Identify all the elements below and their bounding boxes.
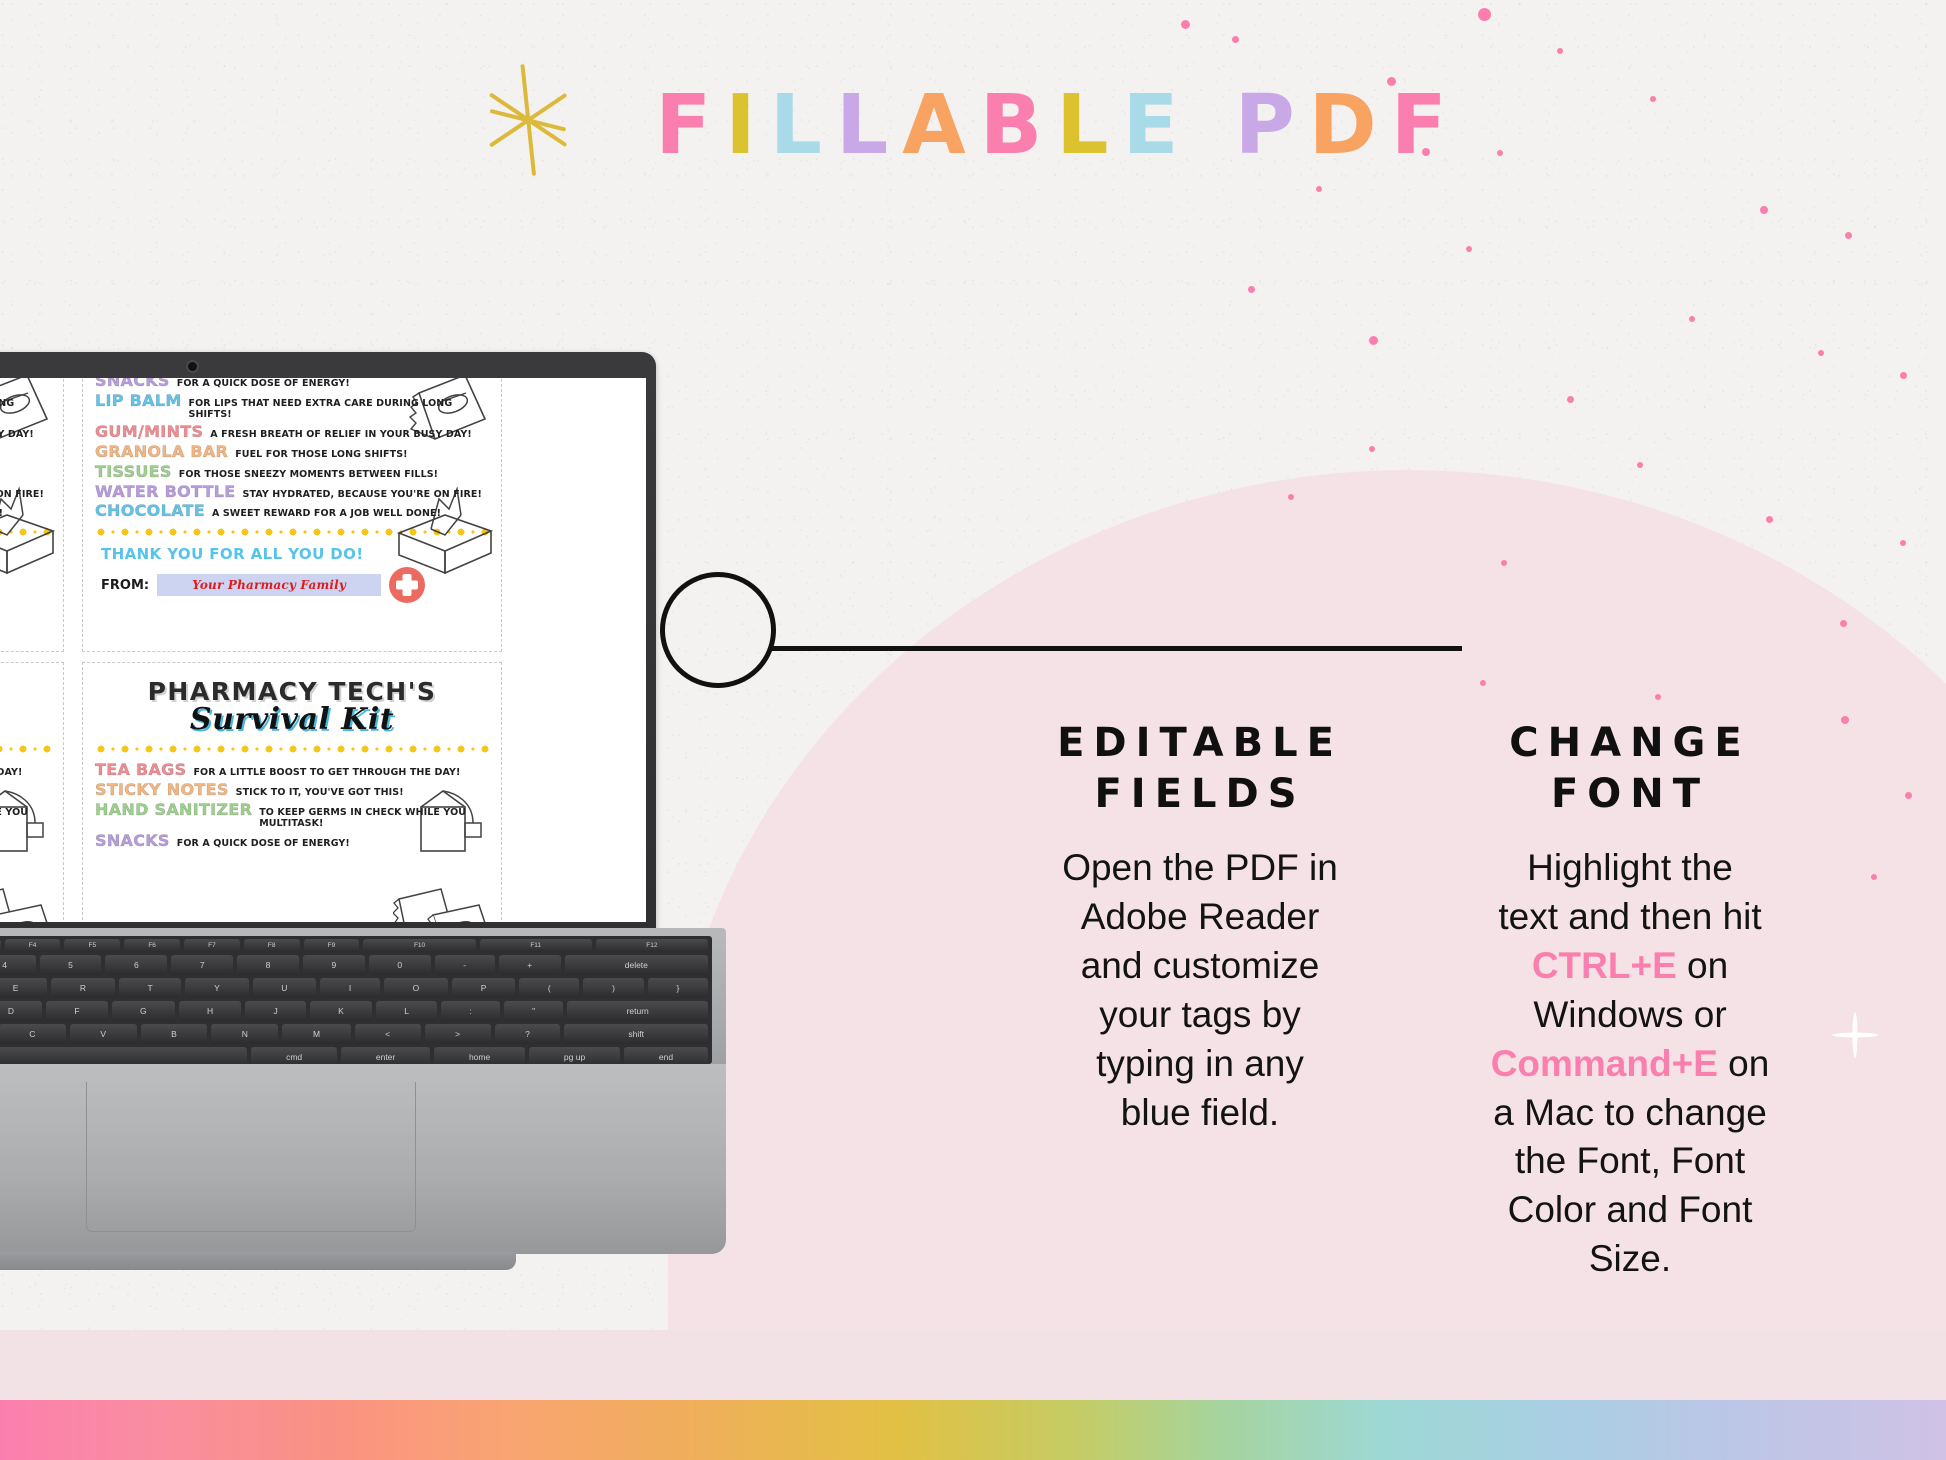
keyboard-key-5[interactable]: 5 — [40, 955, 102, 975]
card-subtitle: Survival Kit — [0, 702, 51, 737]
keyboard-key-f4[interactable]: F4 — [5, 939, 61, 952]
tissue-box-doodle — [391, 485, 497, 577]
title-letter: D — [1309, 85, 1377, 167]
column-body-line: text and then hit — [1430, 893, 1830, 942]
column-body-text: Size. — [1589, 1238, 1671, 1279]
column-change-font: CHANGE FONT Highlight thetext and then h… — [1430, 718, 1830, 1284]
keyboard-key-0[interactable]: 0 — [369, 955, 431, 975]
confetti-dot — [1232, 36, 1239, 43]
confetti-dot — [1181, 20, 1190, 29]
column-body-line: Adobe Reader — [1000, 893, 1400, 942]
webcam-icon — [188, 362, 197, 371]
title-letter: B — [980, 85, 1043, 167]
keyboard-key-k[interactable]: K — [310, 1001, 372, 1021]
card-item-row: TISSUESFOR THOSE SNEEZY MOMENTS BETWEEN … — [95, 464, 489, 481]
confetti-dot — [1480, 680, 1486, 686]
snack-bag-doodle — [0, 378, 53, 445]
keyboard-key-i[interactable]: I — [320, 978, 380, 998]
column-body-line: blue field. — [1000, 1089, 1400, 1138]
title-letter: L — [836, 85, 888, 167]
sparkle-icon — [485, 66, 571, 174]
card-item-keyword: STICKY NOTES — [95, 782, 229, 799]
keyboard-key-[interactable]: } — [648, 978, 708, 998]
keyboard-key-n[interactable]: N — [211, 1024, 278, 1044]
card-item-row: GRANOLA BARFUEL FOR THOSE LONG SHIFTS! — [0, 444, 51, 461]
column-body-line: Open the PDF in — [1000, 844, 1400, 893]
keyboard-key-f5[interactable]: F5 — [64, 939, 120, 952]
card-item-keyword: SNACKS — [95, 833, 170, 850]
confetti-dot — [1841, 716, 1849, 724]
keyboard-key-p[interactable]: P — [452, 978, 515, 998]
tissue-box-doodle — [0, 485, 59, 577]
card-item-keyword: TISSUES — [95, 464, 172, 481]
rainbow-footer-bar — [0, 1400, 1946, 1460]
keyboard-key-delete[interactable]: delete — [565, 955, 708, 975]
snack-bag-doodle — [405, 378, 491, 445]
keyboard-row: ctrloptioncmdcmdenterhomepg upend — [0, 1044, 712, 1064]
keyboard-key-b[interactable]: B — [141, 1024, 208, 1044]
keyboard-key-space[interactable] — [0, 1047, 247, 1064]
keyboard-key-7[interactable]: 7 — [171, 955, 233, 975]
shortcut-highlight: Command+E — [1491, 1043, 1718, 1084]
column-body-text: Color and Font — [1508, 1189, 1753, 1230]
keyboard-key-[interactable]: - — [435, 955, 495, 975]
poster-canvas: FILLABLEPDF — [0, 0, 1946, 1460]
star-divider — [95, 743, 489, 755]
printable-sheet: SNACKSFOR A QUICK DOSE OF ENERGY!LIP BAL… — [0, 378, 646, 922]
card-subtitle: Survival Kit — [95, 702, 489, 737]
confetti-dot — [1905, 792, 1912, 799]
pink-band — [0, 1330, 1946, 1400]
card-item-keyword: HAND SANITIZER — [95, 802, 252, 819]
keyboard-key-c[interactable]: C — [0, 1024, 66, 1044]
keyboard-key-v[interactable]: V — [70, 1024, 137, 1044]
snack-bags-doodle — [0, 885, 59, 922]
keyboard-key-e[interactable]: E — [0, 978, 47, 998]
tea-bag-doodle — [0, 785, 53, 863]
keyboard-key-f10[interactable]: F10 — [363, 939, 475, 952]
confetti-dot — [1900, 372, 1907, 379]
confetti-dot — [1466, 246, 1472, 252]
card-bottom-right: PHARMACY TECH'S Survival Kit — [82, 662, 502, 922]
card-item-keyword: CHOCOLATE — [95, 503, 205, 520]
card-item-description: FOR THOSE SNEEZY MOMENTS BETWEEN FILLS! — [179, 470, 438, 481]
tea-bag-doodle — [411, 785, 491, 863]
card-item-keyword: GUM/MINTS — [95, 424, 203, 441]
confetti-dot — [1501, 560, 1507, 566]
keyboard-key-r[interactable]: R — [51, 978, 115, 998]
laptop-lid: SNACKSFOR A QUICK DOSE OF ENERGY!LIP BAL… — [0, 352, 656, 932]
column-body-text: Highlight the — [1527, 847, 1733, 888]
keyboard-row: ~1234567890-+delete — [0, 952, 712, 975]
title-letter: A — [902, 85, 965, 167]
confetti-dot — [1900, 540, 1906, 546]
keyboard-row: shiftZXCVBNM<>?shift — [0, 1021, 712, 1044]
title-letter: L — [1056, 85, 1108, 167]
confetti-dot — [1288, 494, 1294, 500]
keyboard-key-6[interactable]: 6 — [105, 955, 167, 975]
confetti-dot — [1655, 694, 1661, 700]
column-body-line: Highlight the — [1430, 844, 1830, 893]
title-letter: L — [770, 85, 822, 167]
keyboard-key-m[interactable]: M — [282, 1024, 350, 1044]
confetti-dot — [1760, 206, 1768, 214]
laptop-mockup: SNACKSFOR A QUICK DOSE OF ENERGY!LIP BAL… — [0, 352, 956, 1302]
keyboard-key-h[interactable]: H — [179, 1001, 242, 1021]
column-title: EDITABLE FIELDS — [1000, 718, 1400, 820]
card-item-description: FOR A LITTLE BOOST TO GET THROUGH THE DA… — [0, 768, 22, 779]
column-title: CHANGE FONT — [1430, 718, 1830, 820]
laptop-screen: SNACKSFOR A QUICK DOSE OF ENERGY!LIP BAL… — [0, 378, 646, 922]
keyboard-key-[interactable]: ( — [519, 978, 579, 998]
callout-leader-line — [770, 646, 1462, 651]
title-letter: P — [1235, 85, 1295, 167]
keyboard-key-pgup[interactable]: pg up — [529, 1047, 620, 1064]
keyboard-key-[interactable]: > — [425, 1024, 491, 1044]
card-item-row: GRANOLA BARFUEL FOR THOSE LONG SHIFTS! — [95, 444, 489, 461]
keyboard-key-f11[interactable]: F11 — [480, 939, 592, 952]
card-item-description: FOR A QUICK DOSE OF ENERGY! — [177, 379, 350, 390]
from-label: FROM: — [101, 578, 149, 593]
confetti-dot — [1316, 186, 1322, 192]
page-title-text: FILLABLEPDF — [655, 117, 1461, 134]
column-body-line: and customize — [1000, 942, 1400, 991]
confetti-dot — [1248, 286, 1255, 293]
title-letter: F — [1391, 85, 1447, 167]
keyboard-key-t[interactable]: T — [119, 978, 182, 998]
column-editable-fields: EDITABLE FIELDS Open the PDF inAdobe Rea… — [1000, 718, 1400, 1137]
keyboard-key-[interactable]: : — [441, 1001, 500, 1021]
card-item-description: STICK TO IT, YOU'VE GOT THIS! — [236, 788, 404, 799]
keyboard-key-f8[interactable]: F8 — [244, 939, 300, 952]
card-item-keyword: TEA BAGS — [95, 762, 186, 779]
keyboard-key-f9[interactable]: F9 — [304, 939, 360, 952]
keyboard-row: tabQWERTYUIOP()} — [0, 975, 712, 998]
confetti-dot — [1478, 8, 1491, 21]
keyboard-key-f12[interactable]: F12 — [596, 939, 708, 952]
card-bottom-left: PHARMACY TECH'S Survival Kit — [0, 662, 64, 922]
keyboard-key-4[interactable]: 4 — [0, 955, 36, 975]
card-item-row: TISSUESFOR THOSE SNEEZY MOMENTS BETWEEN … — [0, 464, 51, 481]
keyboard-row: escF1F2F3F4F5F6F7F8F9F10F11F12 — [0, 936, 712, 952]
card-item-keyword: LIP BALM — [95, 393, 182, 410]
confetti-dot — [1369, 446, 1375, 452]
confetti-dot — [1369, 336, 1378, 345]
confetti-dot — [1840, 620, 1847, 627]
card-top-right: SNACKSFOR A QUICK DOSE OF ENERGY!LIP BAL… — [82, 378, 502, 652]
column-body: Open the PDF inAdobe Readerand customize… — [1000, 844, 1400, 1137]
snack-bags-doodle — [393, 885, 497, 922]
confetti-dot — [1871, 874, 1877, 880]
keyboard-key-[interactable]: < — [355, 1024, 421, 1044]
keyboard-key-f3[interactable]: F3 — [0, 939, 1, 952]
magnifier-circle-icon — [660, 572, 776, 688]
shortcut-highlight: CTRL+E — [1532, 945, 1677, 986]
keyboard-key-enter[interactable]: enter — [341, 1047, 430, 1064]
keyboard-key-f7[interactable]: F7 — [184, 939, 240, 952]
column-body-line: the Font, Font — [1430, 1137, 1830, 1186]
keyboard-key-[interactable]: " — [504, 1001, 563, 1021]
card-item-keyword: SNACKS — [95, 378, 170, 390]
card-item-description: FOR A LITTLE BOOST TO GET THROUGH THE DA… — [193, 768, 460, 779]
keyboard-key-j[interactable]: J — [245, 1001, 306, 1021]
column-body-line: Size. — [1430, 1235, 1830, 1284]
column-body-line: your tags by — [1000, 991, 1400, 1040]
star-divider — [0, 743, 51, 755]
laptop-front-edge — [0, 1252, 516, 1270]
column-body-text: on — [1718, 1043, 1769, 1084]
column-title-line: CHANGE — [1430, 718, 1830, 769]
confetti-dot — [1567, 396, 1574, 403]
title-letter: F — [655, 85, 711, 167]
column-body-line: CTRL+E on — [1430, 942, 1830, 991]
card-item-description: FOR A QUICK DOSE OF ENERGY! — [177, 839, 350, 850]
keyboard-key-f[interactable]: F — [46, 1001, 108, 1021]
card-top-left: SNACKSFOR A QUICK DOSE OF ENERGY!LIP BAL… — [0, 378, 64, 652]
keyboard-key-[interactable]: ? — [495, 1024, 561, 1044]
white-sparkle-icon — [1832, 1012, 1878, 1058]
from-blue-field[interactable]: Your Pharmacy Family — [157, 574, 381, 596]
keyboard-key-cmd[interactable]: cmd — [251, 1047, 337, 1064]
confetti-dot — [1818, 350, 1824, 356]
column-title-line: EDITABLE — [1000, 718, 1400, 769]
column-title-line: FONT — [1430, 769, 1830, 820]
page-title: FILLABLEPDF — [0, 72, 1946, 180]
column-title-line: FIELDS — [1000, 769, 1400, 820]
keyboard-key-8[interactable]: 8 — [237, 955, 299, 975]
keyboard-key-l[interactable]: L — [376, 1001, 437, 1021]
keyboard-key-end[interactable]: end — [624, 1047, 708, 1064]
keyboard-row: lockASDFGHJKL:"return — [0, 998, 712, 1021]
column-body-text: a Mac to change — [1493, 1092, 1767, 1133]
card-item-keyword: GRANOLA BAR — [95, 444, 228, 461]
confetti-dot — [1557, 48, 1563, 54]
keyboard-key-o[interactable]: O — [384, 978, 448, 998]
keyboard-key-[interactable]: ) — [583, 978, 643, 998]
confetti-dot — [1766, 516, 1773, 523]
medical-cross-icon — [389, 567, 425, 603]
confetti-dot — [1637, 462, 1643, 468]
column-body-line: Color and Font — [1430, 1186, 1830, 1235]
laptop-trackpad[interactable] — [86, 1082, 416, 1232]
keyboard-key-d[interactable]: D — [0, 1001, 42, 1021]
card-item-description: FUEL FOR THOSE LONG SHIFTS! — [235, 450, 407, 461]
confetti-dot — [1689, 316, 1695, 322]
column-body: Highlight thetext and then hitCTRL+E onW… — [1430, 844, 1830, 1283]
card-item-row: TEA BAGSFOR A LITTLE BOOST TO GET THROUG… — [0, 762, 51, 779]
column-body-line: typing in any — [1000, 1040, 1400, 1089]
title-letter: I — [725, 85, 756, 167]
keyboard-key-f6[interactable]: F6 — [124, 939, 180, 952]
keyboard-key-return[interactable]: return — [567, 1001, 708, 1021]
keyboard-key-9[interactable]: 9 — [303, 955, 365, 975]
keyboard-key-shift[interactable]: shift — [564, 1024, 708, 1044]
keyboard-key-y[interactable]: Y — [185, 978, 248, 998]
confetti-dot — [1845, 232, 1852, 239]
keyboard-key-[interactable]: + — [499, 955, 561, 975]
keyboard-key-g[interactable]: G — [112, 1001, 175, 1021]
column-body-text: Windows or — [1533, 994, 1726, 1035]
keyboard-key-u[interactable]: U — [253, 978, 317, 998]
title-letter: E — [1123, 85, 1179, 167]
column-body-line: Command+E on — [1430, 1040, 1830, 1089]
card-item-keyword: WATER BOTTLE — [95, 484, 236, 501]
column-body-line: a Mac to change — [1430, 1089, 1830, 1138]
laptop-keyboard[interactable]: escF1F2F3F4F5F6F7F8F9F10F11F12~123456789… — [0, 936, 712, 1064]
column-body-text: on — [1677, 945, 1728, 986]
keyboard-key-home[interactable]: home — [434, 1047, 525, 1064]
column-body-line: Windows or — [1430, 991, 1830, 1040]
column-body-text: text and then hit — [1498, 896, 1761, 937]
card-item-row: TEA BAGSFOR A LITTLE BOOST TO GET THROUG… — [95, 762, 489, 779]
column-body-text: the Font, Font — [1515, 1140, 1745, 1181]
